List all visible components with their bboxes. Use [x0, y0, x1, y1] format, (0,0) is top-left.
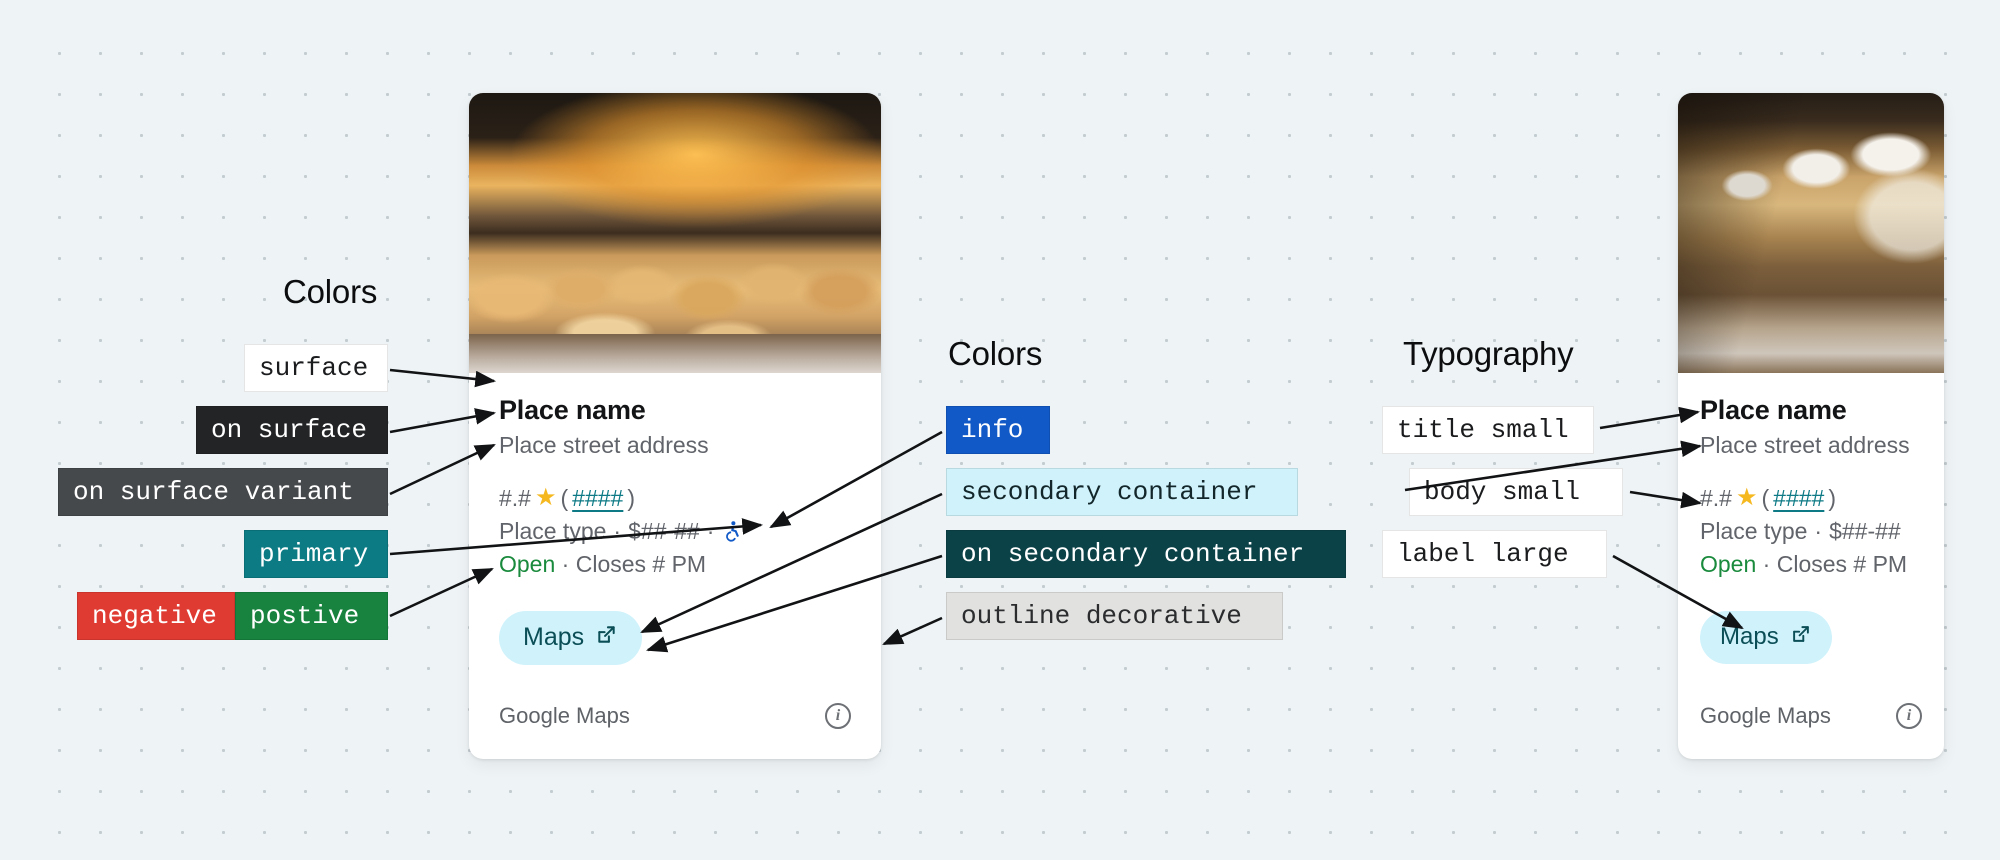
- reviews-close-paren: ): [627, 485, 635, 512]
- reviews-count-link[interactable]: ####: [572, 485, 623, 512]
- info-circle-icon[interactable]: i: [825, 703, 851, 729]
- footer-google-maps-label: Google Maps: [1700, 703, 1831, 729]
- typography-chip-title-small[interactable]: title small: [1382, 406, 1594, 454]
- open-in-new-icon: [1790, 623, 1812, 652]
- place-card-body: Place name Place street address #.# ★ (#…: [469, 373, 881, 665]
- place-hours-row: Open · Closes # PM: [499, 551, 851, 579]
- rating-value: #.#: [1700, 485, 1732, 512]
- place-card-body: Place name Place street address #.# ★ (#…: [1678, 373, 1944, 664]
- place-type-label: Place type: [499, 518, 606, 546]
- separator-dot: ·: [1763, 551, 1771, 577]
- star-icon: ★: [535, 486, 557, 510]
- separator-dot: ·: [613, 518, 621, 546]
- reviews-open-paren: (: [561, 485, 569, 512]
- reviews-close-paren: ): [1828, 485, 1836, 512]
- wheelchair-accessible-icon: [721, 519, 743, 543]
- open-in-new-icon: [595, 623, 618, 653]
- place-card-right[interactable]: Place name Place street address #.# ★ (#…: [1678, 93, 1944, 759]
- color-chip-info[interactable]: info: [946, 406, 1050, 454]
- color-chip-surface[interactable]: surface: [244, 344, 388, 392]
- color-chip-primary[interactable]: primary: [244, 530, 388, 578]
- color-chip-negative[interactable]: negative: [77, 592, 235, 640]
- footer-google-maps-label: Google Maps: [499, 703, 630, 729]
- place-name: Place name: [499, 395, 851, 426]
- closing-time: Closes # PM: [1777, 551, 1907, 577]
- info-circle-icon[interactable]: i: [1896, 703, 1922, 729]
- color-chip-positive[interactable]: postive: [235, 592, 388, 640]
- place-photo-cafe: [1678, 93, 1944, 373]
- place-name: Place name: [1700, 395, 1922, 426]
- color-chip-on-surface[interactable]: on surface: [196, 406, 388, 454]
- place-type-label: Place type: [1700, 518, 1807, 546]
- maps-button-label: Maps: [1720, 623, 1779, 651]
- maps-button[interactable]: Maps: [1700, 611, 1832, 664]
- place-hours-row: Open · Closes # PM: [1700, 551, 1922, 579]
- place-photo-bakery: [469, 93, 881, 373]
- typography-chip-label-large[interactable]: label large: [1382, 530, 1607, 578]
- place-type-row: Place type · $##-##: [1700, 518, 1922, 546]
- separator-dot: ·: [707, 518, 715, 546]
- place-card-footer: Google Maps i: [469, 703, 881, 759]
- place-card-left[interactable]: Place name Place street address #.# ★ (#…: [469, 93, 881, 759]
- design-spec-canvas: Colors Colors Typography surface on surf…: [0, 0, 2000, 860]
- price-range: $##-##: [1829, 518, 1901, 546]
- color-chip-outline-decorative[interactable]: outline decorative: [946, 592, 1283, 640]
- separator-dot: ·: [562, 551, 570, 577]
- maps-button[interactable]: Maps: [499, 611, 642, 665]
- star-icon: ★: [1736, 486, 1758, 510]
- place-card-footer: Google Maps i: [1678, 703, 1944, 759]
- color-chip-secondary-container[interactable]: secondary container: [946, 468, 1298, 516]
- reviews-open-paren: (: [1762, 485, 1770, 512]
- maps-button-label: Maps: [523, 623, 584, 652]
- open-status: Open: [1700, 551, 1756, 577]
- color-chip-on-surface-variant[interactable]: on surface variant: [58, 468, 388, 516]
- reviews-count-link[interactable]: ####: [1773, 485, 1824, 512]
- section-heading-typography: Typography: [1403, 335, 1573, 373]
- place-address: Place street address: [1700, 432, 1922, 460]
- rating-value: #.#: [499, 485, 531, 512]
- place-rating-row: #.# ★ (####): [499, 485, 851, 512]
- open-status: Open: [499, 551, 555, 577]
- section-heading-colors-left: Colors: [283, 273, 377, 311]
- section-heading-colors-center: Colors: [948, 335, 1042, 373]
- place-type-row: Place type · $##-## ·: [499, 518, 851, 546]
- typography-chip-body-small[interactable]: body small: [1409, 468, 1623, 516]
- place-address: Place street address: [499, 432, 851, 460]
- color-chip-on-secondary-container[interactable]: on secondary container: [946, 530, 1346, 578]
- price-range: $##-##: [628, 518, 700, 546]
- place-rating-row: #.# ★ (####): [1700, 485, 1922, 512]
- closing-time: Closes # PM: [576, 551, 706, 577]
- separator-dot: ·: [1814, 518, 1822, 546]
